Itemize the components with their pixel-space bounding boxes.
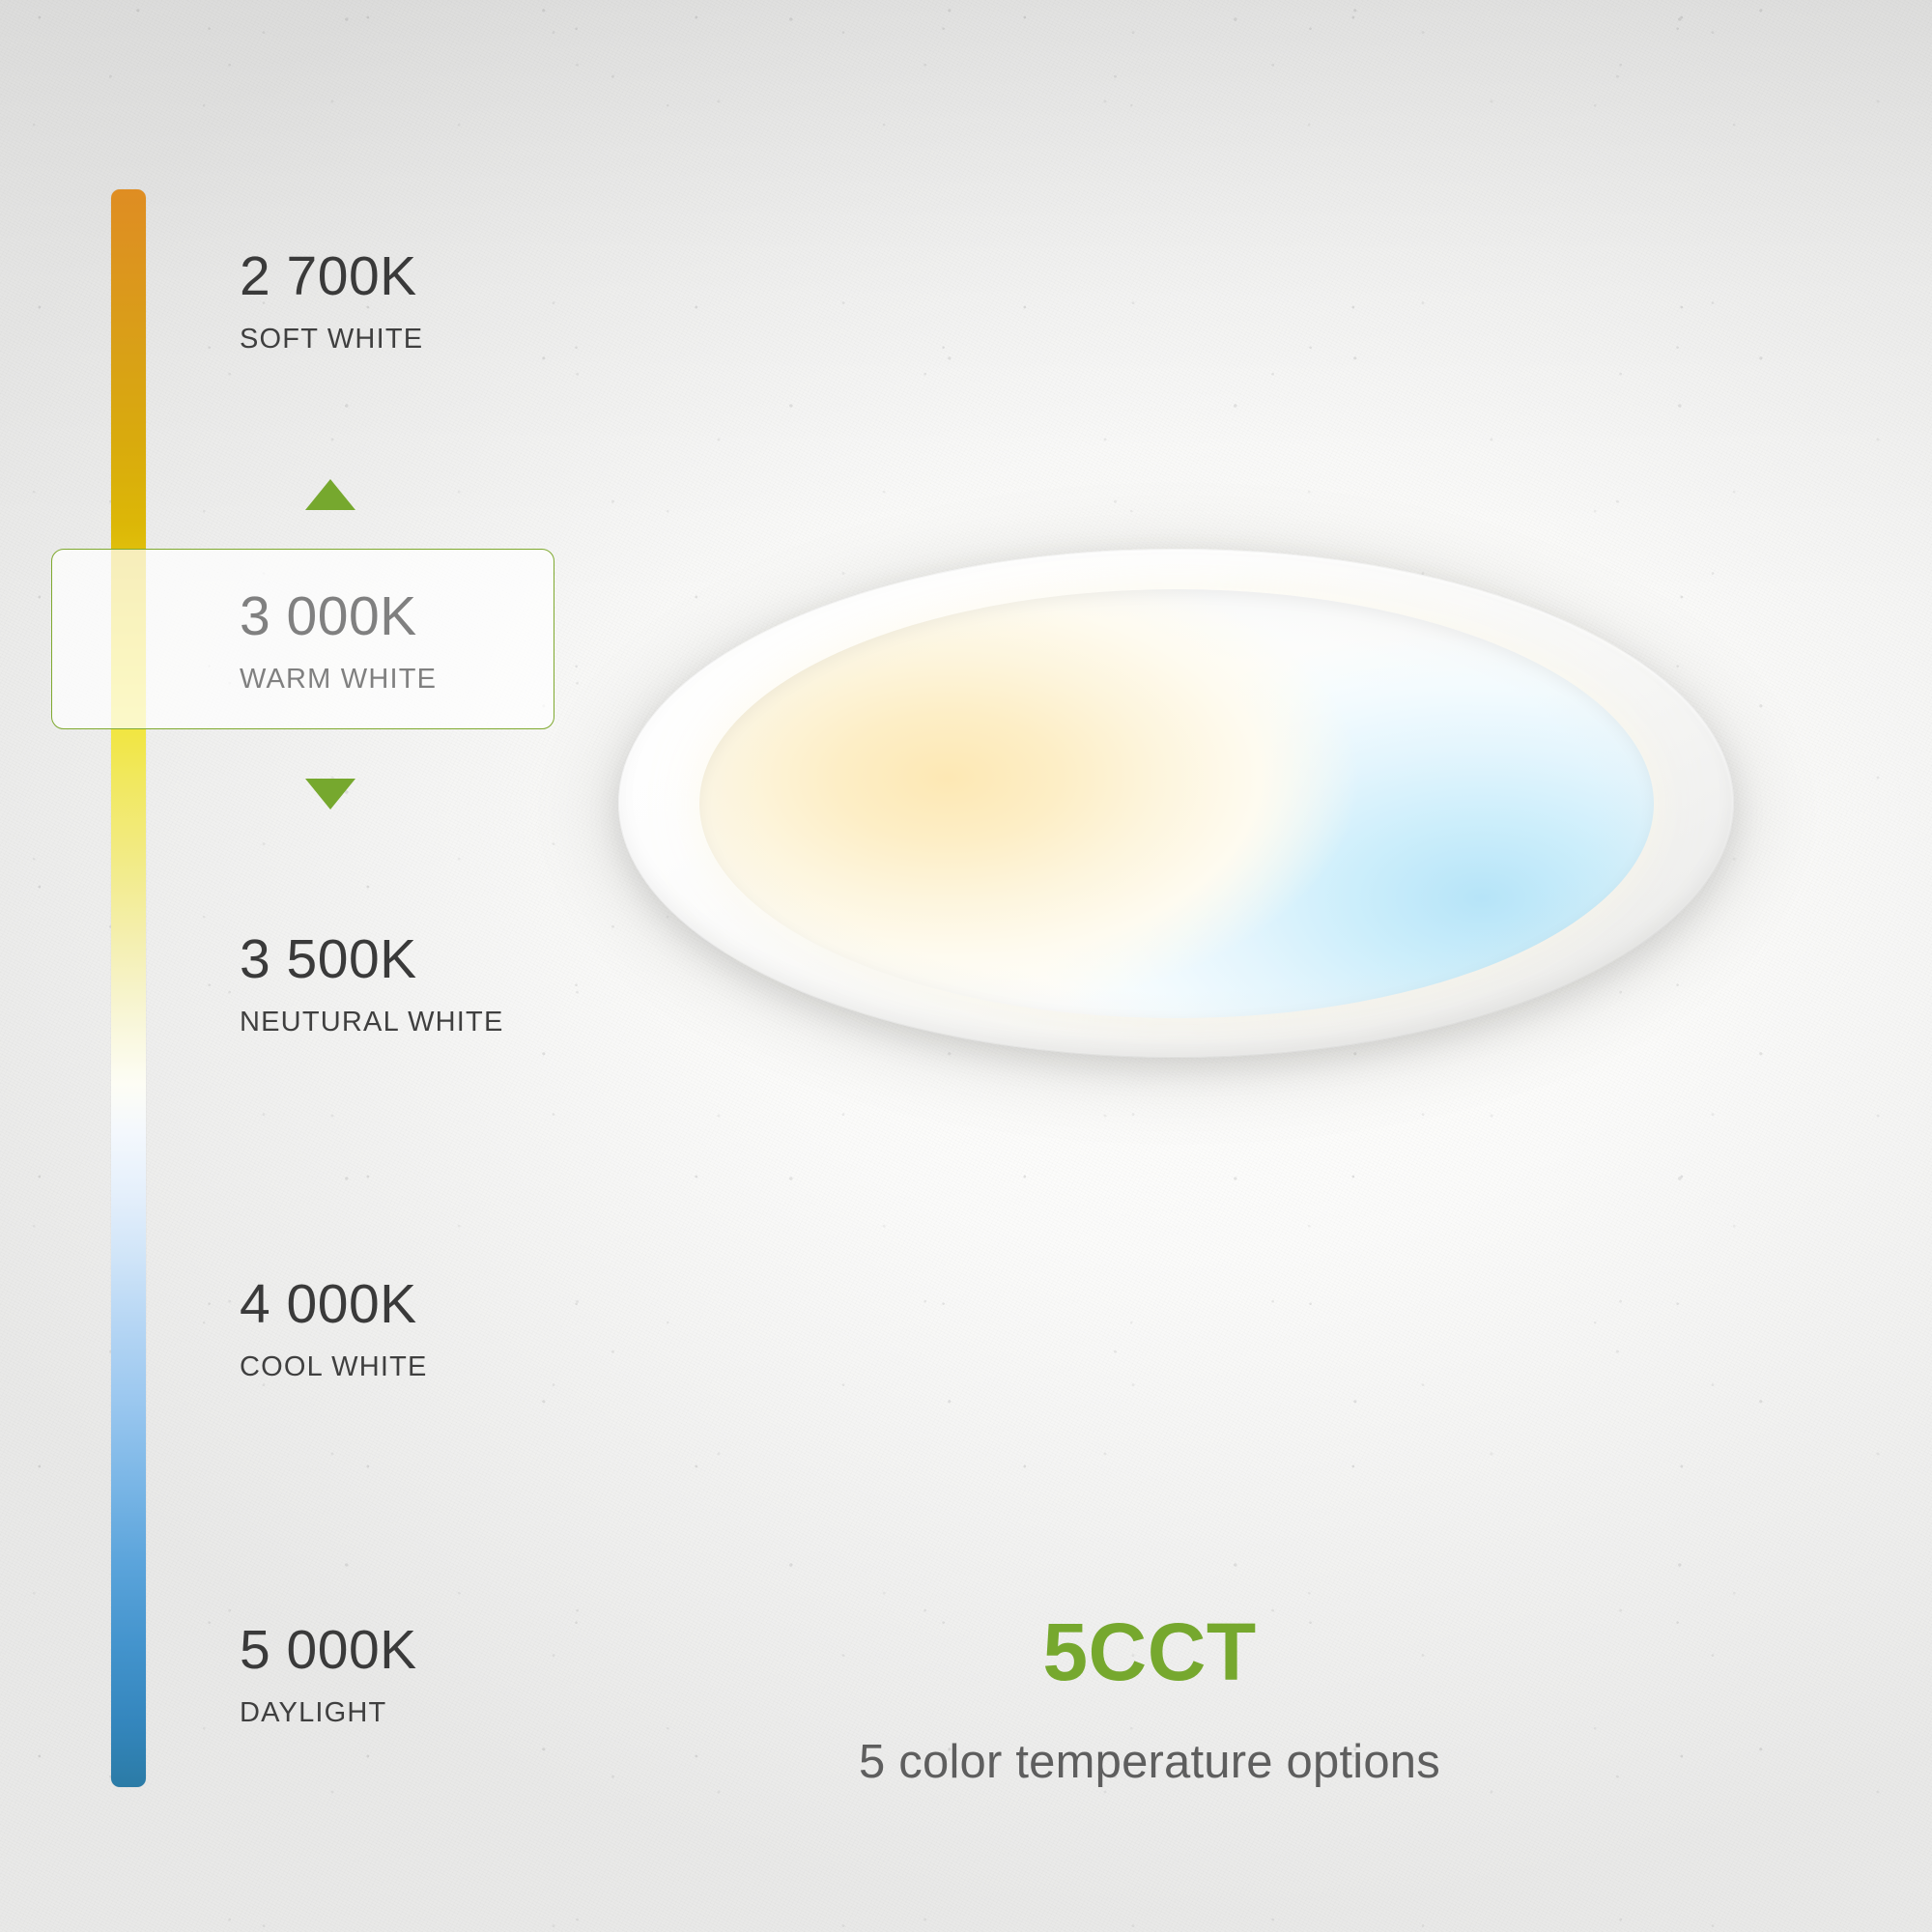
triangle-down-icon[interactable] [305,779,355,810]
scale-step-3000k[interactable]: 3 000K WARM WHITE [240,589,437,694]
scale-step-kelvin: 3 500K [240,932,504,987]
scale-step-name: NEUTURAL WHITE [240,1009,504,1037]
fixture-diffuser-lens [699,589,1654,1018]
scale-step-3500k[interactable]: 3 500K NEUTURAL WHITE [240,932,504,1037]
product-feature-graphic: 2 700K SOFT WHITE 3 000K WARM WHITE 3 50… [0,0,1932,1932]
scale-step-4000k[interactable]: 4 000K COOL WHITE [240,1277,428,1381]
scale-step-kelvin: 2 700K [240,249,423,304]
scale-step-name: DAYLIGHT [240,1699,417,1727]
scale-step-5000k[interactable]: 5 000K DAYLIGHT [240,1623,417,1727]
scale-step-kelvin: 3 000K [240,589,437,644]
scale-step-kelvin: 4 000K [240,1277,428,1332]
color-temperature-gradient-bar[interactable] [111,189,146,1787]
feature-caption: 5CCT 5 color temperature options [734,1611,1565,1786]
fixture-trim-ring [618,549,1734,1058]
triangle-up-icon[interactable] [305,479,355,510]
scale-step-2700k[interactable]: 2 700K SOFT WHITE [240,249,423,354]
scale-step-name: COOL WHITE [240,1353,428,1381]
recessed-led-downlight [618,549,1734,1058]
caption-title: 5CCT [734,1611,1565,1692]
caption-subtitle: 5 color temperature options [734,1739,1565,1786]
scale-step-name: SOFT WHITE [240,326,423,354]
scale-step-name: WARM WHITE [240,666,437,694]
scale-step-kelvin: 5 000K [240,1623,417,1678]
